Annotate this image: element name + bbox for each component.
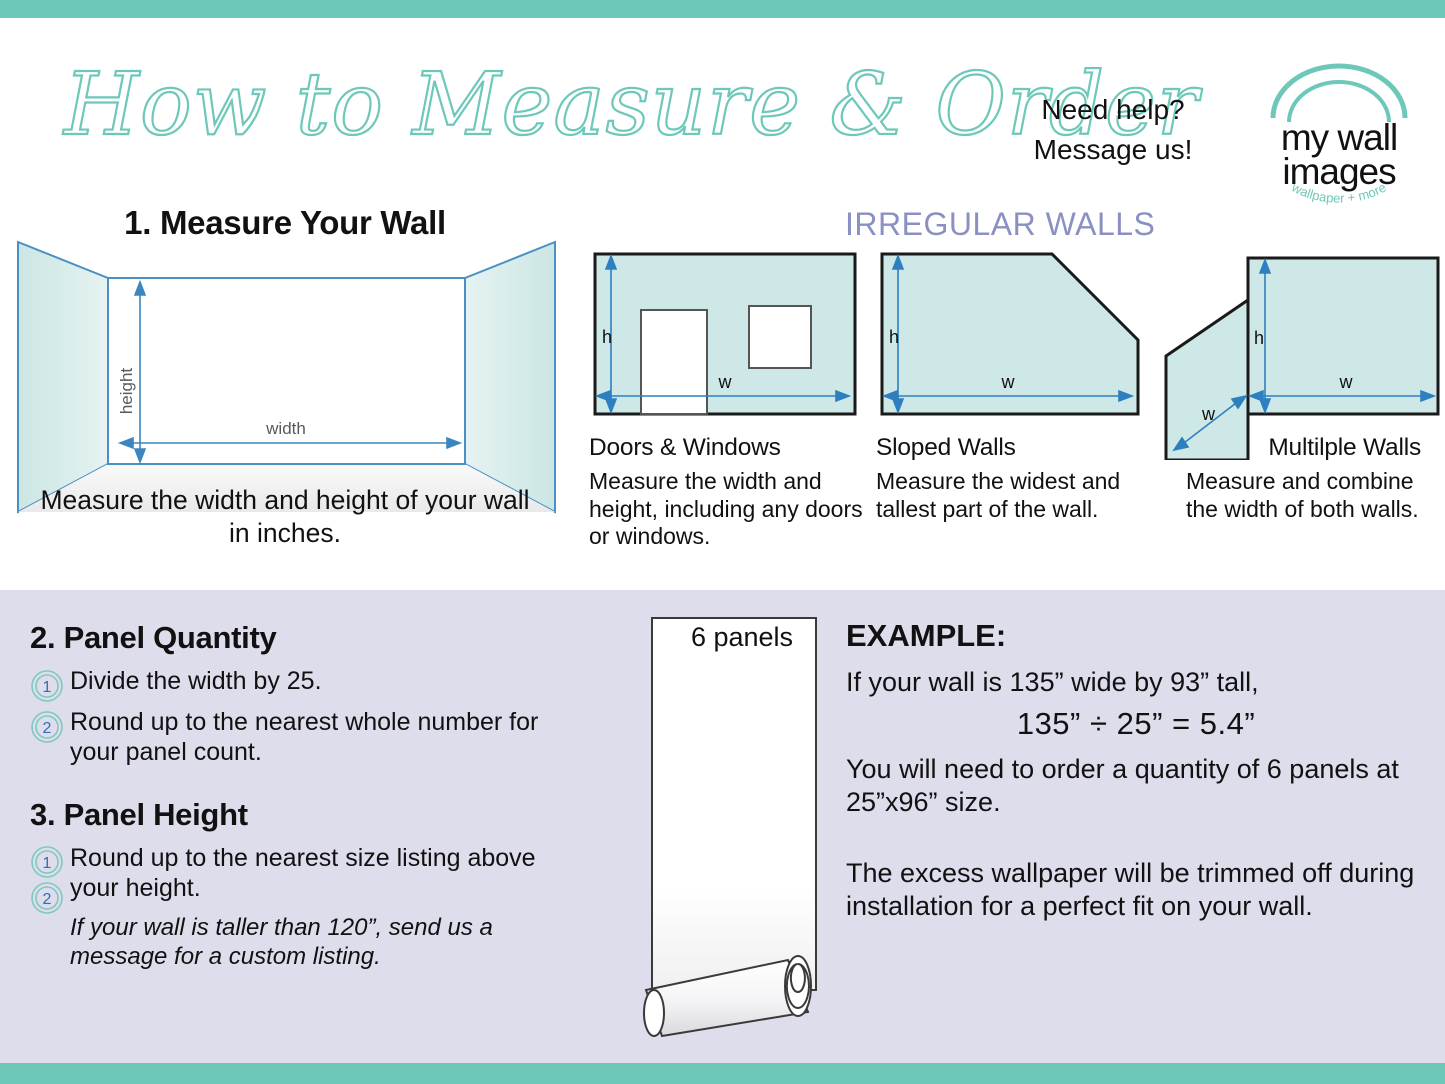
sw-w-label: w xyxy=(1001,372,1016,392)
doors-windows-diagram: h w xyxy=(589,248,861,425)
window-shape xyxy=(749,306,811,368)
number-badge-1-icon: 1 xyxy=(30,669,64,703)
dw-w-label: w xyxy=(718,372,733,392)
svg-text:2: 2 xyxy=(43,891,52,908)
example-heading: EXAMPLE: xyxy=(846,618,1426,654)
step2-bullet-2-text: Round up to the nearest whole number for… xyxy=(70,707,590,767)
dw-body: Measure the width and height, including … xyxy=(589,468,864,551)
multiple-walls-caption: Multilple Walls Measure and combine the … xyxy=(1160,434,1445,523)
steps-column: 2. Panel Quantity 1 Divide the width by … xyxy=(30,620,590,972)
step3-bullet-text: Round up to the nearest size listing abo… xyxy=(30,843,590,903)
height-label: height xyxy=(117,368,136,415)
sw-h-label: h xyxy=(889,327,899,347)
example-line2: You will need to order a quantity of 6 p… xyxy=(846,753,1426,819)
example-calculation: 135” ÷ 25” = 5.4” xyxy=(846,705,1426,743)
sloped-walls-diagram: h w xyxy=(876,248,1144,425)
number-badge-2-icon: 2 xyxy=(30,710,64,744)
example-line1: If your wall is 135” wide by 93” tall, xyxy=(846,666,1426,699)
wallpaper-roll-illustration xyxy=(638,612,848,1042)
svg-text:2: 2 xyxy=(43,720,52,737)
header: How to Measure & Order Need help? Messag… xyxy=(0,18,1445,190)
need-help-block: Need help? Message us! xyxy=(1008,90,1218,170)
mw-body: Measure and combine the width of both wa… xyxy=(1160,468,1445,523)
sw-title: Sloped Walls xyxy=(876,434,1151,462)
step2-bullet-2: 2 Round up to the nearest whole number f… xyxy=(30,707,590,767)
section1-heading: 1. Measure Your Wall xyxy=(0,204,570,242)
need-help-line2: Message us! xyxy=(1008,130,1218,170)
sloped-walls-caption: Sloped Walls Measure the widest and tall… xyxy=(876,434,1151,523)
irregular-walls-heading: IRREGULAR WALLS xyxy=(845,206,1155,243)
roll-left-cap xyxy=(644,990,664,1036)
page-title: How to Measure & Order xyxy=(60,46,990,166)
width-label: width xyxy=(265,419,306,438)
mw-title: Multilple Walls xyxy=(1160,434,1445,462)
number-badge-4-icon: 2 xyxy=(30,881,64,915)
door-shape xyxy=(641,310,707,414)
svg-text:1: 1 xyxy=(43,855,52,872)
sw-body: Measure the widest and tallest part of t… xyxy=(876,468,1151,523)
logo-arc-inner xyxy=(1289,82,1389,122)
step3-note: If your wall is taller than 120”, send u… xyxy=(30,913,590,972)
bottom-accent-band xyxy=(0,1063,1445,1084)
roll-panel-count-label: 6 panels xyxy=(652,622,832,653)
svg-text:1: 1 xyxy=(43,679,52,696)
example-line3: The excess wallpaper will be trimmed off… xyxy=(846,857,1426,923)
brand-logo: my wall images wallpaper + more xyxy=(1255,66,1423,206)
example-column: EXAMPLE: If your wall is 135” wide by 93… xyxy=(846,618,1426,929)
step2-heading: 2. Panel Quantity xyxy=(30,620,590,656)
step3-bullet-group: 1 2 Round up to the nearest size listing… xyxy=(30,843,590,972)
multiple-walls-diagram: h w w xyxy=(1160,248,1445,465)
mw-h-label: h xyxy=(1254,328,1264,348)
mw-w2-label: w xyxy=(1201,404,1216,424)
step2-bullet-1: 1 Divide the width by 25. xyxy=(30,666,590,703)
dw-h-label: h xyxy=(602,327,612,347)
doors-windows-caption: Doors & Windows Measure the width and he… xyxy=(589,434,864,551)
number-badge-3-icon: 1 xyxy=(30,845,64,879)
top-accent-band xyxy=(0,0,1445,18)
mw-w-label: w xyxy=(1339,372,1354,392)
section1-caption: Measure the width and height of your wal… xyxy=(40,484,530,551)
dw-title: Doors & Windows xyxy=(589,434,864,462)
step2-bullet-1-text: Divide the width by 25. xyxy=(70,666,322,696)
lower-panel: 2. Panel Quantity 1 Divide the width by … xyxy=(0,590,1445,1063)
measure-your-wall-section: height width 1. Measure Your Wall Measur… xyxy=(0,196,570,576)
roll-sheet xyxy=(652,618,816,990)
need-help-line1: Need help? xyxy=(1008,90,1218,130)
step3-heading: 3. Panel Height xyxy=(30,797,590,833)
